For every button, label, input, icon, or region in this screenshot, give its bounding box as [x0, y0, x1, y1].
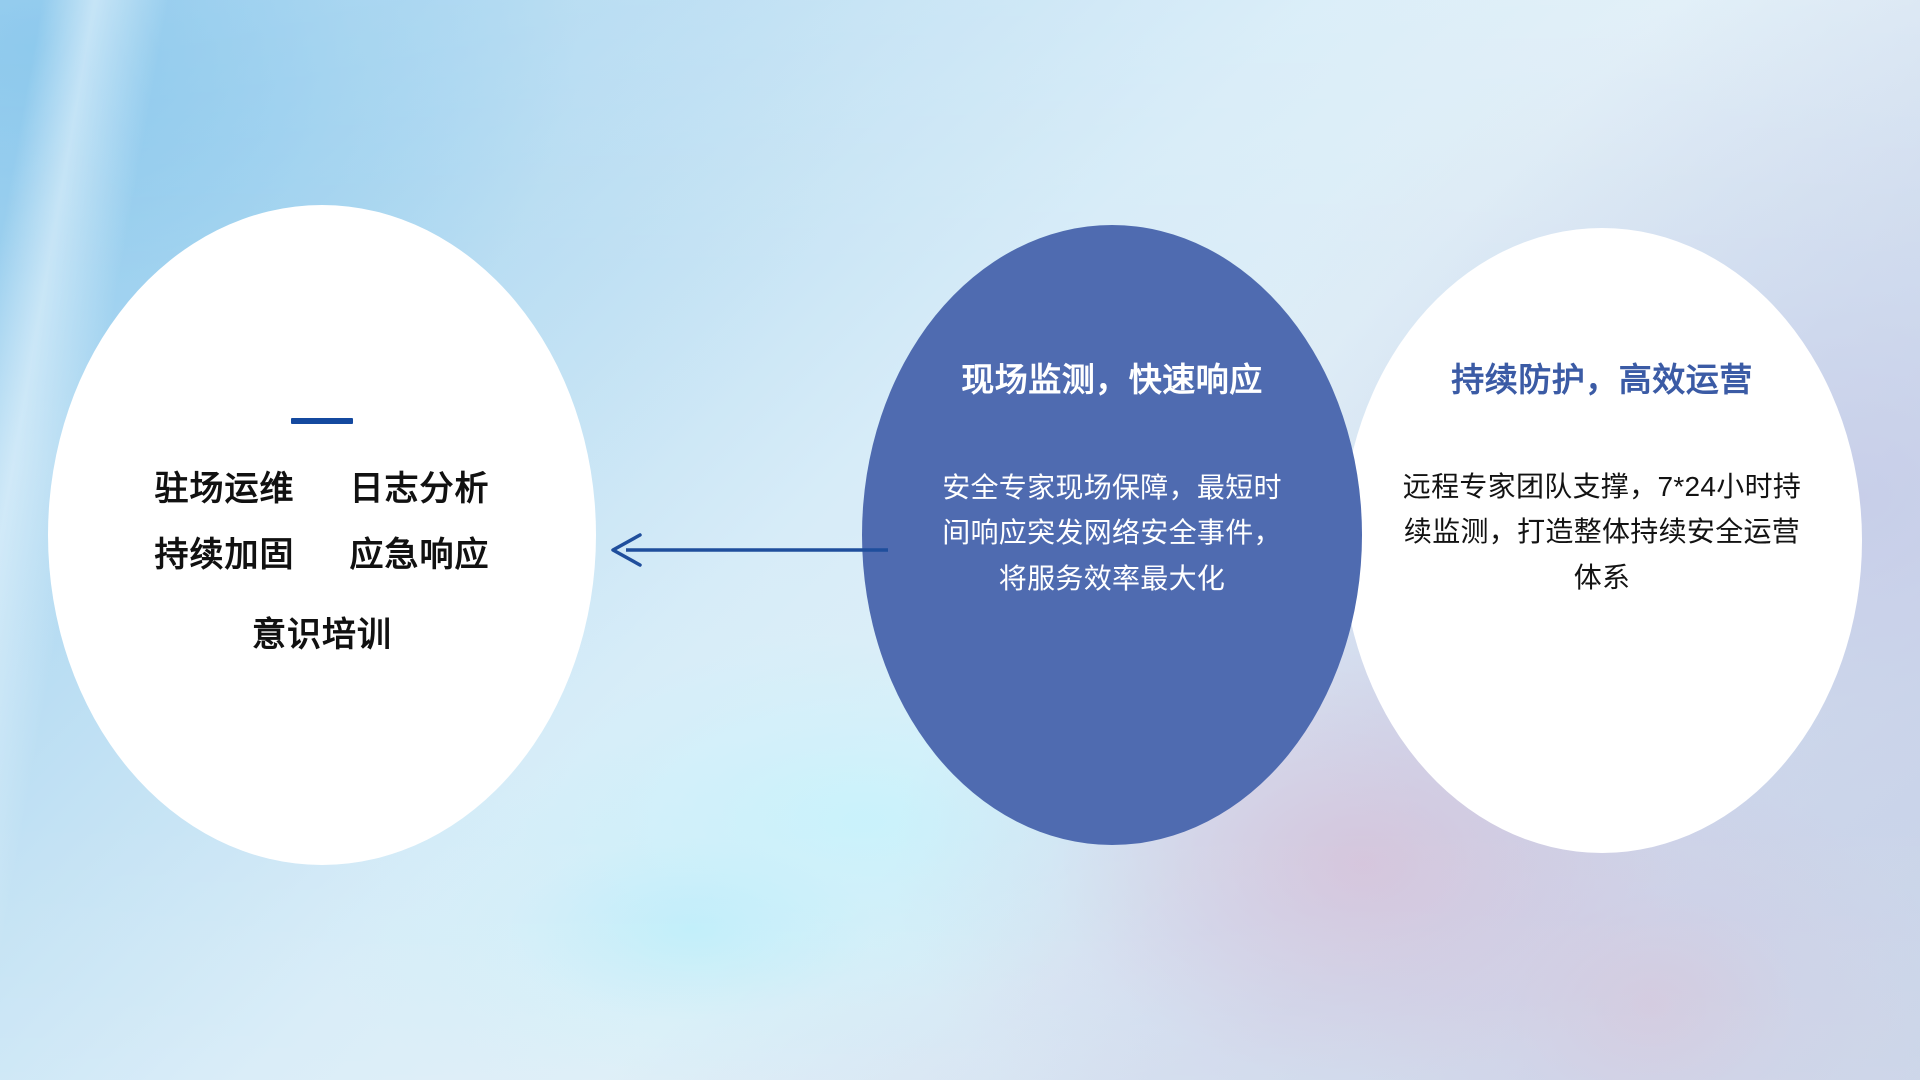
left-item-continuous-hardening: 持续加固	[155, 536, 295, 574]
left-circle-line-2: 持续加固 应急响应	[155, 538, 490, 572]
accent-dash-icon	[291, 418, 353, 424]
left-item-log-analysis: 日志分析	[349, 470, 489, 508]
left-arrow-icon	[600, 515, 890, 585]
circle-continuous-protection[interactable]	[1342, 228, 1862, 853]
left-item-emergency-response: 应急响应	[349, 536, 489, 574]
slide-canvas: 驻场运维 日志分析 持续加固 应急响应 意识培训 现场监测，快速响应 安全专家现…	[0, 0, 1920, 1080]
left-circle-content: 驻场运维 日志分析 持续加固 应急响应 意识培训	[48, 205, 596, 865]
left-item-awareness-training: 意识培训	[252, 618, 392, 652]
left-circle-line-1: 驻场运维 日志分析	[155, 472, 490, 506]
circle-onsite-monitoring[interactable]	[862, 225, 1362, 845]
left-item-onsite-ops: 驻场运维	[155, 470, 295, 508]
